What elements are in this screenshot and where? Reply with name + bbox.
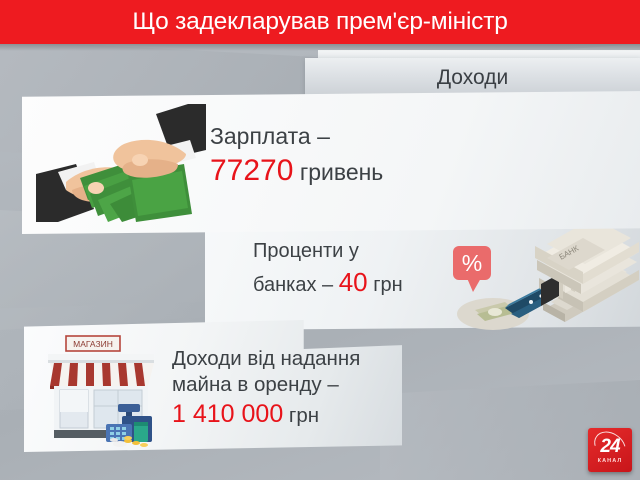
title-bar-shadow: [0, 44, 640, 51]
bank-amount: 40: [339, 267, 368, 297]
rent-label-line1: Доходи від надання: [172, 348, 360, 371]
rent-unit: грн: [289, 404, 319, 427]
bank-label-line2: банках –: [253, 274, 333, 296]
income-card-bank-interest: Проценти у банках – 40 грн: [205, 218, 640, 330]
svg-text:%: %: [462, 250, 482, 276]
rent-amount: 1 410 000: [172, 400, 283, 428]
bank-label-line1: Проценти у: [253, 240, 403, 262]
shop-sign-label: МАГАЗИН: [73, 339, 113, 349]
rent-text-block: Доходи від надання майна в оренду – 1 41…: [172, 348, 360, 428]
bank-unit: грн: [373, 274, 402, 296]
shop-storefront-icon: МАГАЗИН: [36, 330, 186, 448]
salary-unit: гривень: [300, 159, 383, 185]
rent-label-line2: майна в оренду –: [172, 374, 360, 397]
salary-amount-line: 77270 гривень: [210, 154, 383, 188]
income-card-salary: Зарплата – 77270 гривень: [22, 88, 640, 234]
bank-amount-line: банках – 40 грн: [253, 268, 403, 297]
logo-arc-icon: [589, 426, 632, 467]
section-title: Доходи: [437, 67, 508, 88]
bank-text-block: Проценти у банках – 40 грн: [253, 240, 403, 298]
salary-amount: 77270: [210, 154, 293, 187]
salary-text-block: Зарплата – 77270 гривень: [210, 124, 383, 187]
percent-badge-icon: %: [453, 246, 491, 292]
rent-amount-line: 1 410 000 грн: [172, 400, 360, 428]
income-card-rent: МАГАЗИН: [24, 320, 402, 452]
page-title: Що задекларував прем'єр-міністр: [132, 10, 507, 35]
page-title-bar: Що задекларував прем'єр-міністр: [0, 0, 640, 44]
hands-exchanging-money-icon: [36, 104, 206, 222]
channel-logo: 24 КАНАЛ: [588, 428, 632, 472]
salary-label: Зарплата –: [210, 124, 383, 150]
